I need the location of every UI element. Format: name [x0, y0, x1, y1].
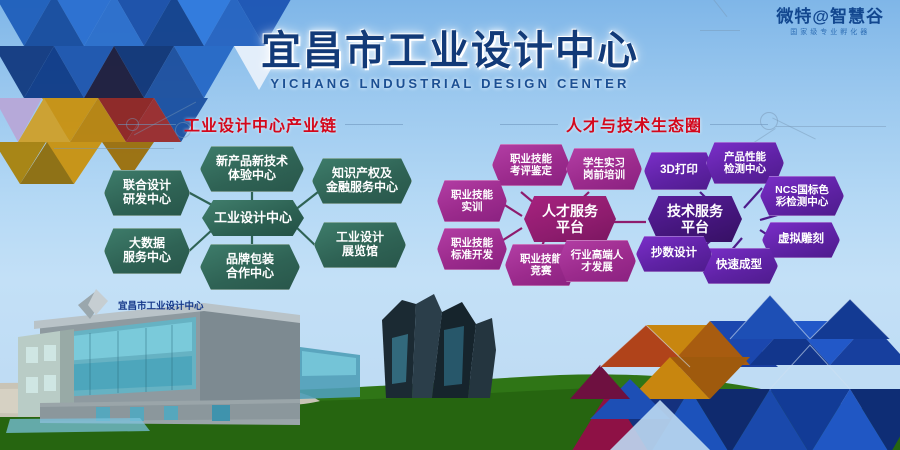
- section-rule-right: [345, 124, 403, 125]
- brand-logo-text: 微特@智慧谷: [776, 8, 884, 25]
- tech-node-3d-printing[interactable]: 3D打印: [644, 152, 714, 190]
- chain-node-joint-design[interactable]: 联合设计 研发中心: [104, 170, 190, 216]
- arrow-notch-decoration: [600, 390, 720, 450]
- talent-platform-center[interactable]: 人才服务 平台: [524, 196, 616, 242]
- section-rule-left-2: [500, 124, 558, 125]
- page-title: 宜昌市工业设计中心: [0, 30, 900, 72]
- building-roof-sign: 宜昌市工业设计中心: [118, 300, 204, 312]
- talent-node-skill-assessment[interactable]: 职业技能 考评鉴定: [492, 144, 570, 186]
- chain-node-big-data[interactable]: 大数据 服务中心: [104, 228, 190, 274]
- poster-title-block: 宜昌市工业设计中心 YICHANG LNDUSTRIAL DESIGN CENT…: [0, 30, 900, 91]
- talent-node-student-internship[interactable]: 学生实习 岗前培训: [566, 148, 642, 190]
- design-center-building-illustration: 宜昌市工业设计中心: [0, 285, 420, 450]
- chain-node-exhibition-hall[interactable]: 工业设计 展览馆: [314, 222, 406, 268]
- section-rule-left: [118, 124, 176, 125]
- tech-node-ncs-color-detection[interactable]: NCS国标色 彩检测中心: [760, 176, 844, 216]
- poster-canvas: 微特@智慧谷 国家级专业孵化器 宜昌市工业设计中心 YICHANG LNDUST…: [0, 0, 900, 450]
- section-rule-right-2: [710, 124, 768, 125]
- chain-node-ip-finance[interactable]: 知识产权及 金融服务中心: [312, 158, 412, 204]
- talent-node-standard-development[interactable]: 职业技能 标准开发: [437, 228, 507, 270]
- talent-node-skill-training[interactable]: 职业技能 实训: [437, 180, 507, 222]
- wire-line-topright: [711, 0, 728, 17]
- wire-line-right-3: [776, 126, 886, 127]
- tech-node-reverse-engineering[interactable]: 抄数设计: [636, 236, 712, 272]
- tech-platform-center[interactable]: 技术服务 平台: [648, 196, 742, 242]
- page-subtitle: YICHANG LNDUSTRIAL DESIGN CENTER: [0, 76, 900, 91]
- sculpture-structure: [372, 290, 502, 398]
- chain-node-new-product-tech[interactable]: 新产品新技术 体验中心: [200, 146, 304, 192]
- tech-node-virtual-carving[interactable]: 虚拟雕刻: [762, 222, 840, 258]
- chain-node-center[interactable]: 工业设计中心: [202, 200, 304, 236]
